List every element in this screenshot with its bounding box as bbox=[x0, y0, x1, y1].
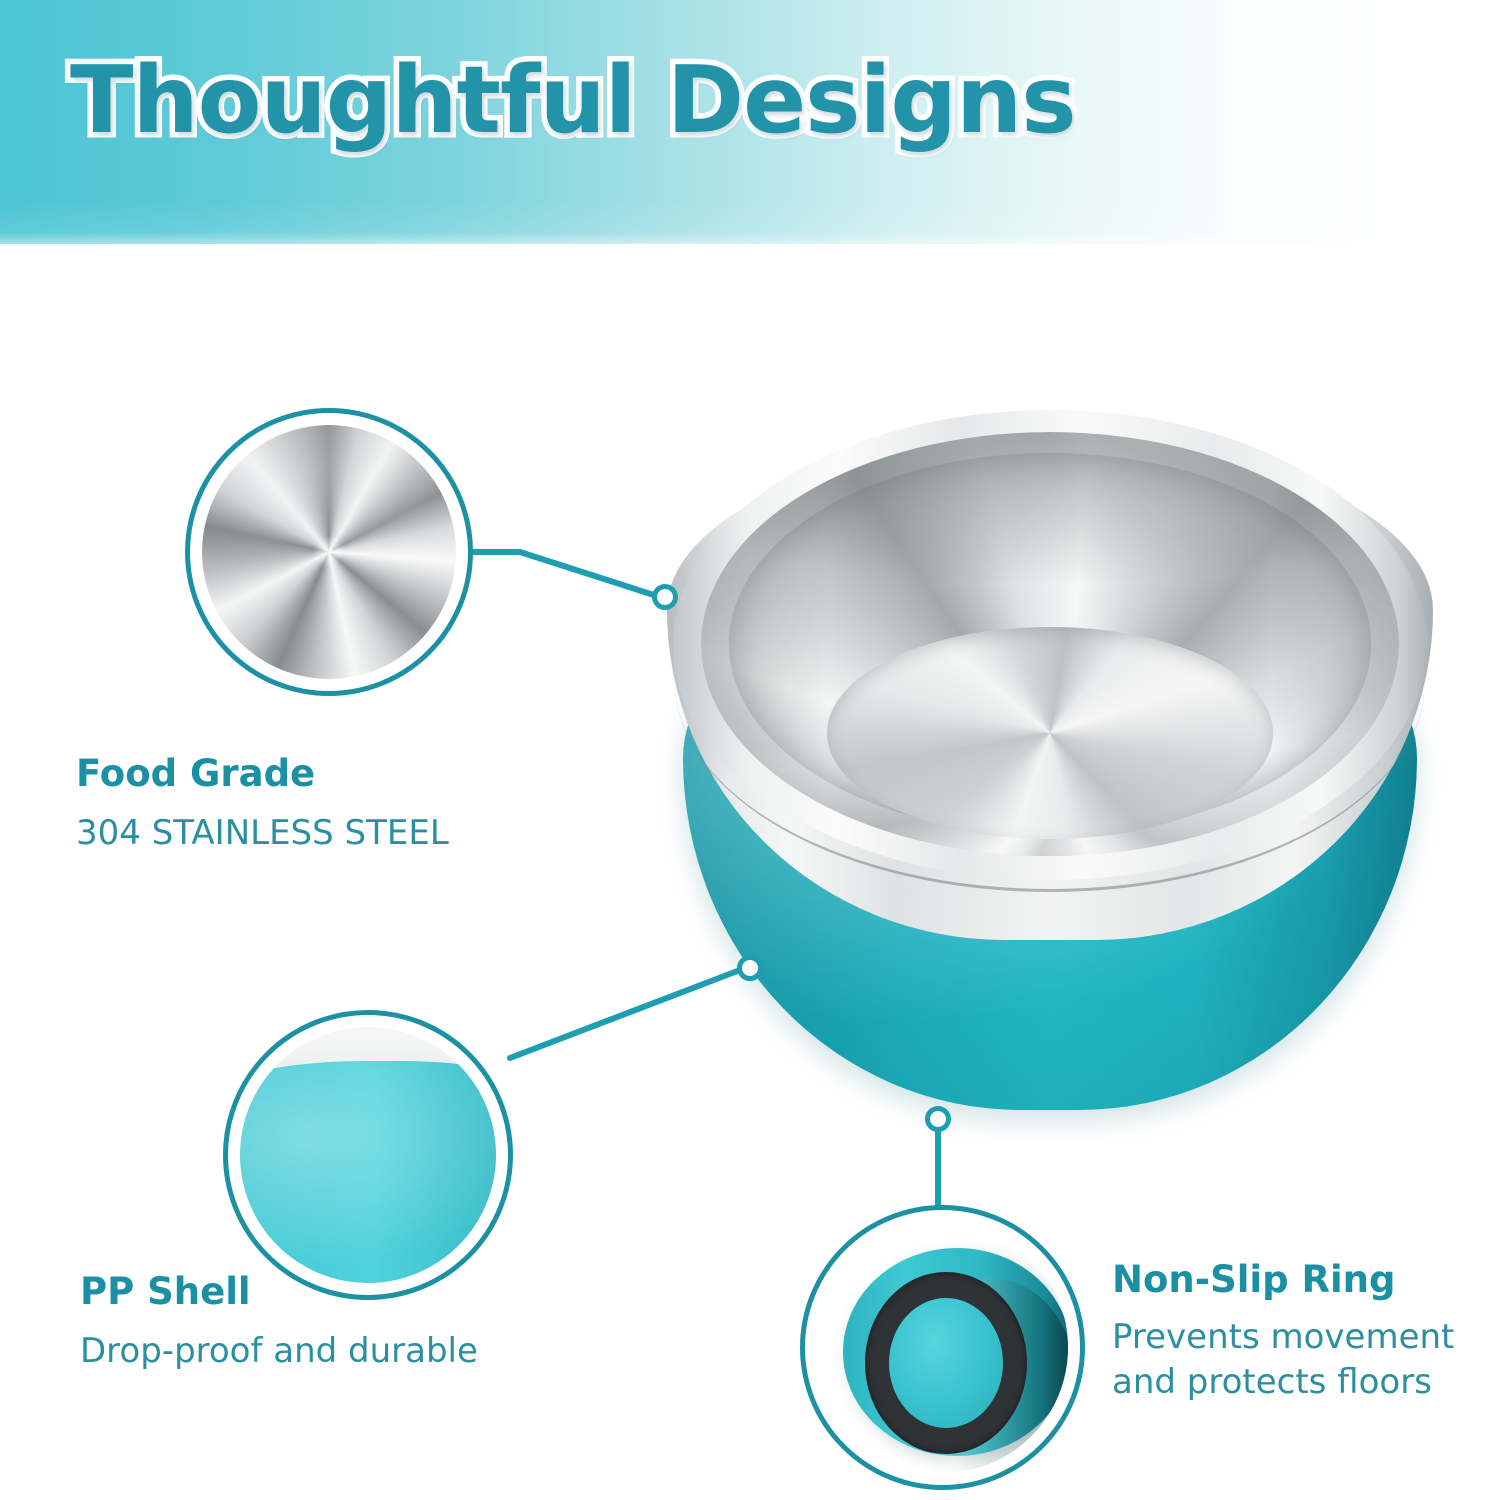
feature-title-non-slip-ring: Non-Slip Ring bbox=[1112, 1258, 1500, 1301]
feature-title-pp-shell: PP Shell bbox=[80, 1270, 478, 1313]
bowl-base-puck-icon bbox=[843, 1248, 1068, 1456]
teal-shell-closeup-icon bbox=[240, 1027, 496, 1283]
bowl-floor bbox=[827, 627, 1274, 839]
product-bowl-image bbox=[655, 410, 1445, 1110]
bowl-steel-interior bbox=[701, 432, 1399, 856]
feature-text-food-grade: Food Grade 304 STAINLESS STEEL bbox=[76, 752, 449, 856]
marker-dot-pp-shell bbox=[737, 955, 763, 981]
stainless-steel-gloss bbox=[202, 425, 456, 679]
callout-inner-non-slip-ring bbox=[817, 1222, 1068, 1473]
marker-dot-non-slip-ring bbox=[925, 1106, 951, 1132]
header-bottom-fade bbox=[0, 200, 1500, 246]
page-title: Thoughtful Designs bbox=[70, 52, 1076, 150]
shell-crop-teal-body bbox=[240, 1061, 496, 1283]
feature-text-non-slip-ring: Non-Slip Ring Prevents movement and prot… bbox=[1112, 1258, 1500, 1405]
rubber-ring bbox=[865, 1272, 1027, 1454]
feature-title-food-grade: Food Grade bbox=[76, 752, 449, 795]
callout-circle-food-grade bbox=[185, 408, 473, 696]
infographic-page: Thoughtful Designs bbox=[0, 0, 1500, 1500]
callout-inner-pp-shell bbox=[240, 1027, 496, 1283]
bowl-base-center bbox=[889, 1298, 1003, 1428]
callout-inner-food-grade bbox=[202, 425, 456, 679]
callout-circle-pp-shell bbox=[223, 1010, 513, 1300]
feature-text-pp-shell: PP Shell Drop-proof and durable bbox=[80, 1270, 478, 1374]
callout-circle-non-slip-ring bbox=[800, 1205, 1085, 1490]
feature-desc-pp-shell: Drop-proof and durable bbox=[80, 1329, 478, 1374]
feature-desc-non-slip-ring: Prevents movement and protects floors bbox=[1112, 1315, 1500, 1405]
marker-dot-food-grade bbox=[652, 584, 678, 610]
feature-desc-food-grade: 304 STAINLESS STEEL bbox=[76, 811, 449, 856]
